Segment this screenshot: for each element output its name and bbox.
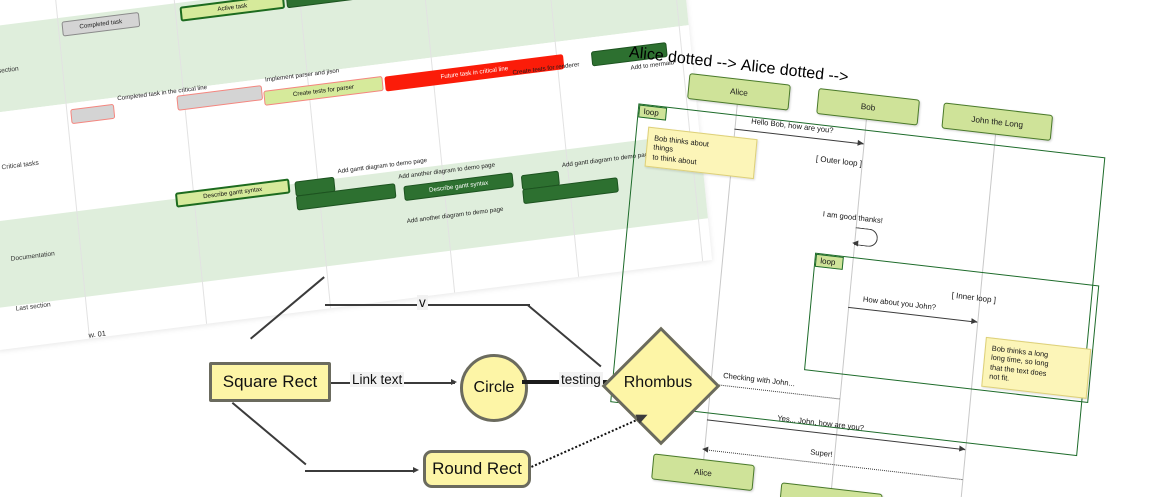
flow-edge-dotted	[531, 416, 643, 467]
arrow-right-icon	[971, 318, 978, 325]
actor-label: John the Long	[971, 114, 1023, 129]
flow-node-label: Square Rect	[223, 372, 318, 392]
flow-edge-label-testing: testing	[559, 372, 603, 387]
flow-edge-label-link-text: Link text	[350, 372, 404, 387]
actor-label: Alice	[730, 86, 748, 97]
flow-edge-to-round	[305, 470, 415, 472]
flow-edge-label-v: v	[417, 295, 428, 310]
arrow-right-icon	[857, 140, 864, 147]
flow-node-label: Round Rect	[432, 459, 522, 479]
actor-bob-top[interactable]: Bob	[816, 88, 920, 126]
flow-node-rhombus-label: Rhombus	[608, 370, 708, 396]
arrow-right-icon	[959, 446, 966, 453]
actor-alice-top[interactable]: Alice	[687, 73, 791, 111]
flow-edge-top-right	[527, 304, 602, 367]
composite-diagram-canvas: Adding GANTT diagram functionality to me…	[0, 0, 1170, 497]
flowchart-panel: v Square Rect Link text Circle testing R…	[195, 292, 755, 497]
arrow-right-icon	[451, 379, 457, 385]
flow-node-label: Circle	[474, 379, 515, 397]
message-label: Super!	[810, 447, 833, 459]
actor-label: Bob	[860, 101, 875, 112]
actor-john-top[interactable]: John the Long	[941, 102, 1053, 141]
gantt-axis-label: w. 01	[88, 329, 106, 340]
flow-node-round-rect[interactable]: Round Rect	[423, 450, 531, 488]
arrow-right-icon	[413, 467, 419, 473]
gantt-bar-label: Active task	[217, 2, 247, 13]
flow-edge-bottom-left	[232, 402, 307, 465]
gantt-bar-label: Completed task	[79, 18, 122, 30]
arrow-left-icon	[852, 240, 859, 247]
flow-node-circle[interactable]: Circle	[460, 354, 528, 422]
flow-node-square-rect[interactable]: Square Rect	[209, 362, 331, 402]
